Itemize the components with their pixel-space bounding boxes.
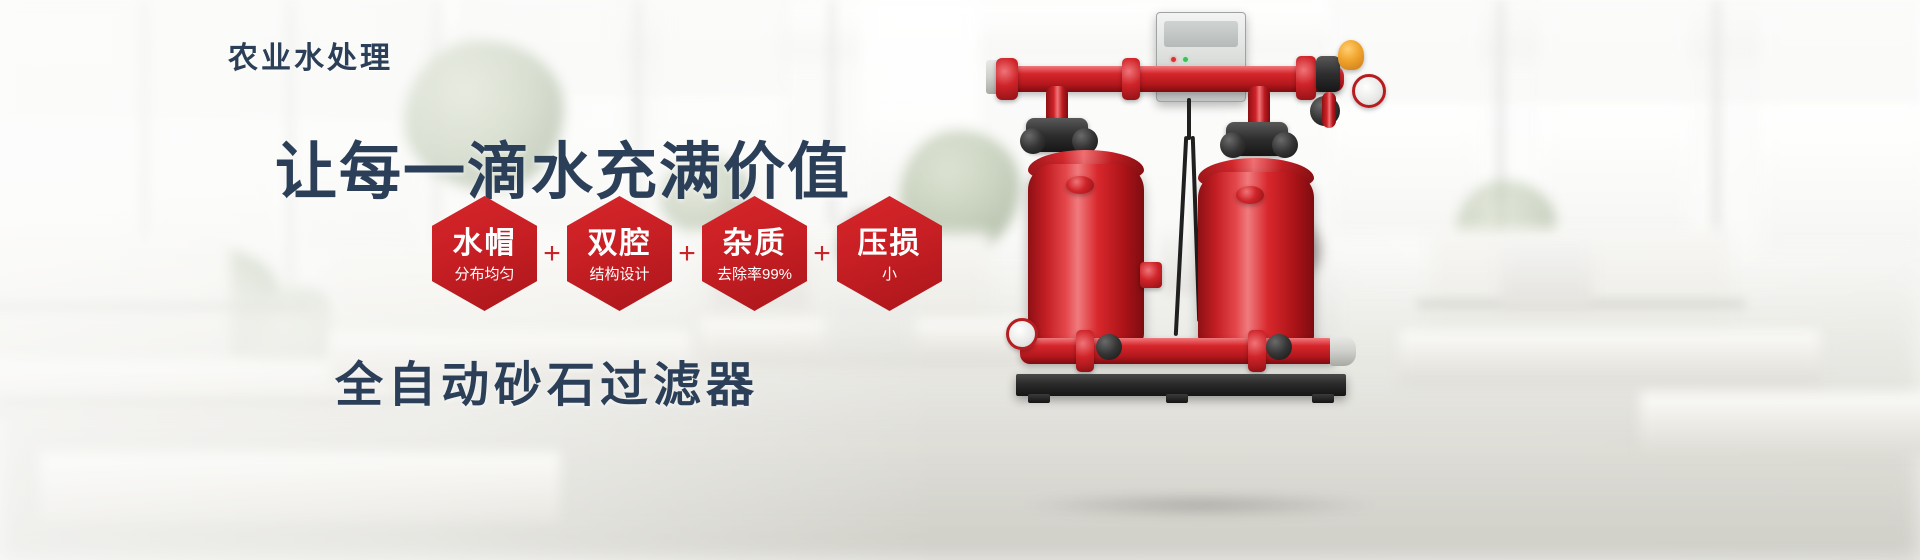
feature-badge-2: 双腔 结构设计 — [567, 196, 672, 311]
feature-badge-2-title: 双腔 — [588, 227, 652, 261]
plus-separator-icon: + — [672, 239, 702, 269]
control-box-led — [1183, 57, 1188, 62]
feature-badge-4-subtitle: 小 — [882, 266, 897, 284]
skid-foot — [1028, 394, 1050, 403]
feature-badge-2-subtitle: 结构设计 — [589, 266, 649, 284]
banner-copy: 农业水处理 让每一滴水充满价值 水帽 分布均匀 + 双腔 结构设计 + — [0, 0, 1030, 560]
skid-foot — [1312, 394, 1334, 403]
pipe-flange — [1076, 330, 1094, 372]
control-box-led — [1171, 57, 1176, 62]
air-release-valve — [1338, 40, 1364, 70]
pipe-flange — [1122, 58, 1140, 100]
promo-banner: HANYUAN — [0, 0, 1920, 560]
tank-manhole — [1236, 186, 1264, 204]
plus-separator-icon: + — [537, 239, 567, 269]
feature-badge-1-title: 水帽 — [453, 227, 517, 261]
pipe-flange — [1296, 56, 1316, 100]
banner-product-title: 全自动砂石过滤器 — [335, 362, 759, 410]
drain-valve — [1096, 334, 1122, 360]
feature-badge-4: 压损 小 — [837, 196, 942, 311]
feature-badge-1: 水帽 分布均匀 — [432, 196, 537, 311]
banner-headline: 让每一滴水充满价值 — [275, 140, 851, 205]
feature-badge-3: 杂质 去除率99% — [702, 196, 807, 311]
equipment-floor-shadow — [1020, 492, 1380, 518]
feature-badge-4-title: 压损 — [858, 227, 922, 261]
tank-manhole — [1066, 176, 1094, 194]
valve-handwheel — [1220, 132, 1246, 158]
drain-valve — [1266, 334, 1292, 360]
equipment-skid-base — [1016, 374, 1346, 396]
valve-handwheel — [1272, 132, 1298, 158]
control-cable — [1174, 136, 1188, 336]
banner-eyebrow: 农业水处理 — [228, 44, 393, 74]
control-cable — [1187, 98, 1191, 140]
pipe-flange — [1248, 330, 1266, 372]
sand-filter-equipment-image: HANYUAN — [980, 0, 1450, 560]
feature-badge-list: 水帽 分布均匀 + 双腔 结构设计 + 杂质 去除率99% — [432, 196, 942, 311]
outlet-nozzle — [1330, 336, 1356, 366]
skid-foot — [1166, 394, 1188, 403]
plus-separator-icon: + — [807, 239, 837, 269]
riser-pipe — [1322, 92, 1336, 128]
tank-side-port — [1140, 262, 1162, 288]
feature-badge-3-subtitle: 去除率99% — [717, 266, 792, 284]
pressure-gauge — [1352, 74, 1386, 108]
control-box-display — [1164, 21, 1238, 47]
top-valve — [1316, 56, 1340, 92]
feature-badge-3-title: 杂质 — [723, 227, 787, 261]
feature-badge-1-subtitle: 分布均匀 — [454, 266, 514, 284]
